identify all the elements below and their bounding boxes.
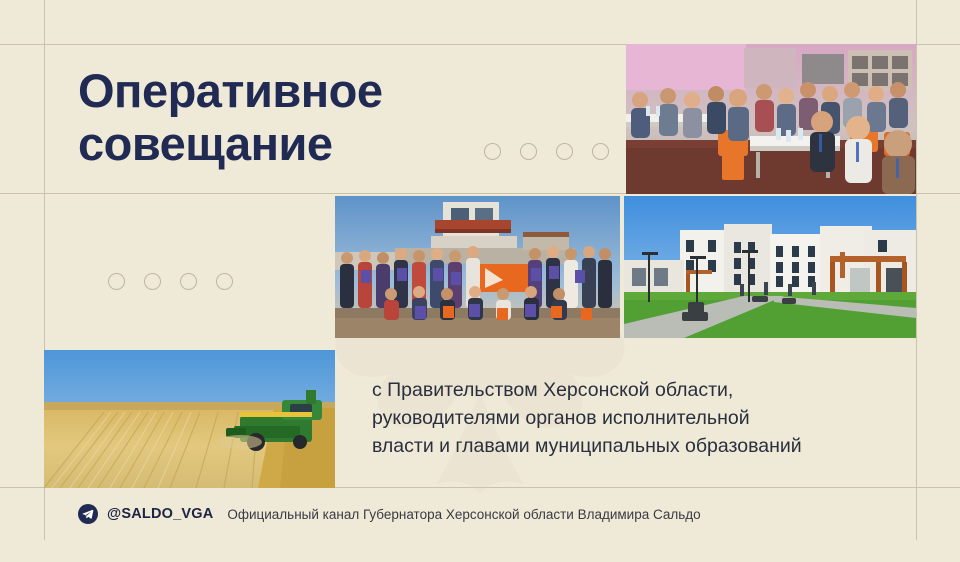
circle-icon (484, 143, 501, 160)
telegram-icon (78, 504, 98, 524)
photo-campus (624, 196, 916, 338)
footer-description: Официальный канал Губернатора Херсонской… (227, 507, 700, 522)
photo-harvester (44, 350, 335, 488)
page-title: Оперативное совещание (78, 64, 548, 170)
circle-icon (520, 143, 537, 160)
footer-bar: @SALDO_VGA Официальный канал Губернатора… (0, 488, 960, 540)
decor-dots-left (108, 273, 233, 290)
circle-icon (108, 273, 125, 290)
circle-icon (556, 143, 573, 160)
photo-group (335, 196, 620, 338)
slide-subtitle: с Правительством Херсонской области, рук… (372, 376, 912, 460)
gridline-vertical-right (916, 0, 917, 540)
circle-icon (592, 143, 609, 160)
circle-icon (144, 273, 161, 290)
photo-meeting (626, 44, 916, 194)
circle-icon (216, 273, 233, 290)
circle-icon (180, 273, 197, 290)
decor-dots-title (484, 143, 609, 160)
slide-root: Оперативное совещание (0, 0, 960, 540)
telegram-handle[interactable]: @SALDO_VGA (107, 506, 213, 522)
